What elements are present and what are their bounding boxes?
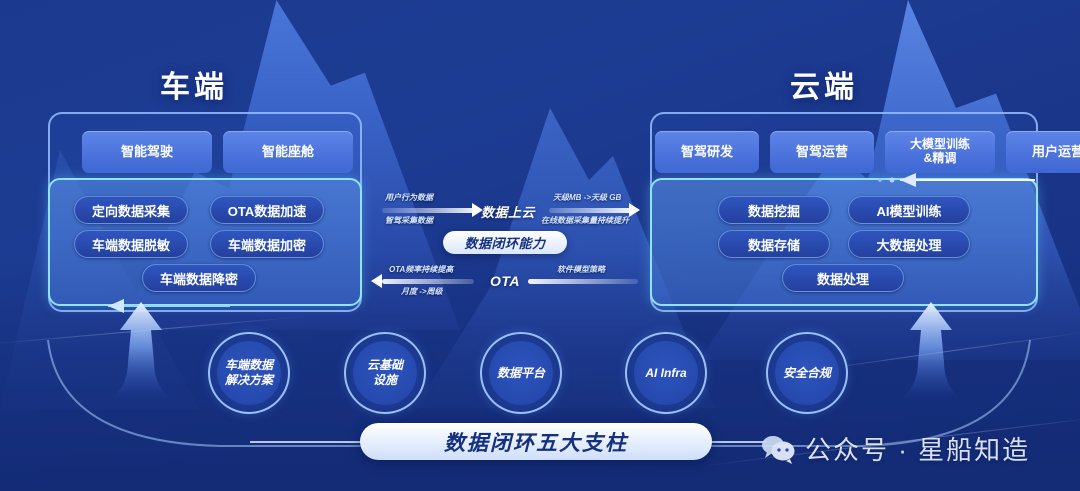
- downstream-left-arrow-bar: [382, 279, 474, 284]
- center-badge-data-closed-loop: 数据闭环能力: [443, 231, 567, 254]
- vehicle-pill-desensitization[interactable]: 车端数据脱敏: [74, 230, 188, 258]
- downstream-note-ota-frequency: OTA频率持续提高: [389, 264, 453, 275]
- vehicle-pill-decryption[interactable]: 车端数据降密: [142, 264, 256, 292]
- upstream-right-arrow-head: [629, 203, 640, 217]
- cloud-capability-band: 数据挖掘 AI模型训练 数据存储 大数据处理 数据处理: [650, 178, 1038, 306]
- vehicle-chip-intelligent-driving[interactable]: 智能驾驶: [82, 131, 212, 173]
- bottom-banner-five-pillars: 数据闭环五大支柱: [360, 423, 712, 460]
- upstream-note-user-behavior: 用户行为数据: [385, 192, 433, 203]
- cloud-pill-data-processing[interactable]: 数据处理: [782, 264, 904, 292]
- cloud-return-loop: [830, 170, 1060, 190]
- banner-tail-left: [250, 441, 365, 443]
- pillar-label: 云基础 设施: [367, 358, 403, 388]
- cloud-pill-big-data-processing[interactable]: 大数据处理: [848, 230, 970, 258]
- vehicle-pill-encryption[interactable]: 车端数据加密: [210, 230, 324, 258]
- downstream-note-software-model-strategy: 软件模型策略: [557, 264, 605, 275]
- pillar-label: AI Infra: [645, 366, 686, 381]
- pillar-ai-infra[interactable]: AI Infra: [625, 332, 707, 414]
- vehicle-chip-intelligent-cockpit[interactable]: 智能座舱: [223, 131, 353, 173]
- pillar-label: 车端数据 解决方案: [225, 358, 273, 388]
- upstream-note-driving-collection: 智驾采集数据: [385, 215, 433, 226]
- pillar-vehicle-data-solution[interactable]: 车端数据 解决方案: [208, 332, 290, 414]
- pillar-cloud-infrastructure[interactable]: 云基础 设施: [344, 332, 426, 414]
- cloud-chip-user-ops[interactable]: 用户运营: [1006, 131, 1080, 173]
- downstream-label-ota: OTA: [490, 273, 520, 289]
- pillar-security-compliance[interactable]: 安全合规: [766, 332, 848, 414]
- pillar-label: 安全合规: [783, 366, 831, 381]
- section-title-cloud: 云端: [790, 62, 858, 106]
- vehicle-pill-targeted-collection[interactable]: 定向数据采集: [74, 196, 188, 224]
- vehicle-chip-row: 智能驾驶 智能座舱: [82, 131, 353, 173]
- cloud-chip-driving-rd[interactable]: 智驾研发: [655, 131, 759, 173]
- pillar-label: 数据平台: [497, 366, 545, 381]
- cloud-pill-data-mining[interactable]: 数据挖掘: [718, 196, 830, 224]
- downstream-note-monthly-weekly: 月度 ->周级: [401, 286, 443, 297]
- upstream-right-arrow-bar: [549, 208, 631, 213]
- section-title-vehicle: 车端: [160, 62, 228, 106]
- vehicle-pill-ota-acceleration[interactable]: OTA数据加速: [210, 196, 324, 224]
- upstream-note-volume-growth: 天级MB ->天级 GB: [553, 192, 621, 203]
- upstream-note-online-collection: 在线数据采集量持续提升: [541, 215, 629, 226]
- cloud-chip-large-model-training[interactable]: 大模型训练 &精调: [885, 131, 995, 173]
- cloud-chip-row: 智驾研发 智驾运营 大模型训练 &精调 用户运营: [655, 131, 1080, 173]
- banner-tail-right: [706, 441, 766, 443]
- cloud-pill-data-storage[interactable]: 数据存储: [718, 230, 830, 258]
- vehicle-capability-band: 定向数据采集 OTA数据加速 车端数据脱敏 车端数据加密 车端数据降密: [48, 178, 362, 306]
- cloud-chip-driving-ops[interactable]: 智驾运营: [770, 131, 874, 173]
- diagram-canvas: 车端 云端 智能驾驶 智能座舱 智驾研发 智驾运营 大模型训练 &精调 用户运营…: [0, 0, 1080, 491]
- downstream-left-arrow-head: [371, 274, 382, 288]
- upstream-label-data-to-cloud: 数据上云: [481, 202, 535, 221]
- cloud-pill-ai-model-training[interactable]: AI模型训练: [848, 196, 970, 224]
- watermark-text: 公众号 · 星船知造: [805, 430, 1030, 467]
- wechat-icon: [760, 434, 796, 464]
- pillar-data-platform[interactable]: 数据平台: [480, 332, 562, 414]
- downstream-right-arrow-bar: [528, 279, 638, 284]
- upstream-left-arrow-bar: [382, 208, 474, 213]
- watermark: 公众号 · 星船知造: [760, 430, 1030, 467]
